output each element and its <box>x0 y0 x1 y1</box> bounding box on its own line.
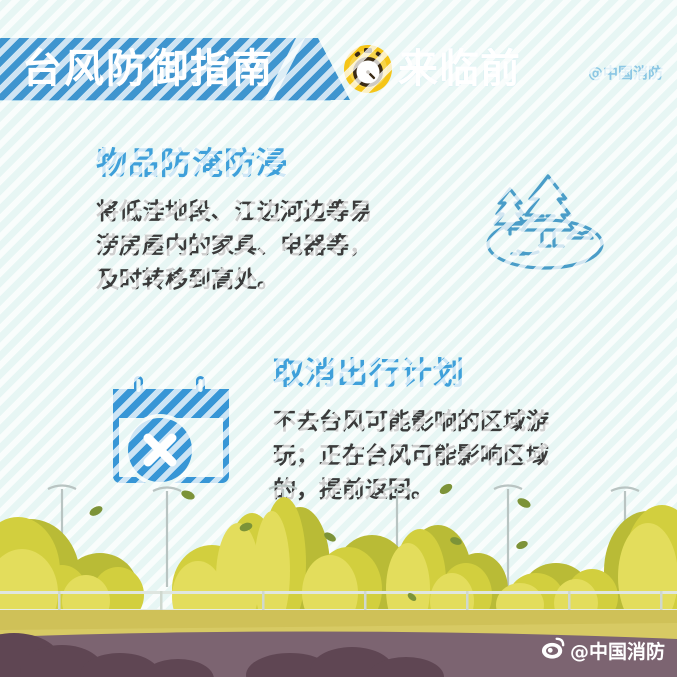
section-body-line: 将低洼地段、江边河边等易 <box>96 195 446 229</box>
poster-root: 台风防御指南 来临前 @中国消防 物品防淹防浸 将低洼地段、江边河边等易 涝房屋… <box>0 0 677 677</box>
weibo-watermark: @中国消防 <box>541 636 665 665</box>
weibo-icon <box>541 636 565 665</box>
section-body-line: 涝房屋内的家具、电器等， <box>96 229 446 263</box>
banner-title: 台风防御指南 <box>22 44 274 94</box>
header-banner: 台风防御指南 <box>0 38 350 100</box>
header-account-handle: @中国消防 <box>588 62 663 83</box>
section-body-line: 及时转移到高处。 <box>96 263 446 297</box>
header-subtitle: 来临前 <box>398 46 521 92</box>
section-body: 将低洼地段、江边河边等易 涝房屋内的家具、电器等， 及时转移到高处。 <box>96 195 446 297</box>
section-item-goods-flood-protection: 物品防淹防浸 将低洼地段、江边河边等易 涝房屋内的家具、电器等， 及时转移到高处… <box>96 145 446 297</box>
weibo-watermark-text: @中国消防 <box>570 637 665 664</box>
flooded-trees-icon <box>470 146 620 276</box>
section-heading: 物品防淹防浸 <box>96 145 446 183</box>
section-heading: 取消出行计划 <box>273 355 633 393</box>
stopwatch-icon <box>343 44 393 94</box>
section-body-line: 不去台风可能影响的区域游 <box>273 405 633 439</box>
